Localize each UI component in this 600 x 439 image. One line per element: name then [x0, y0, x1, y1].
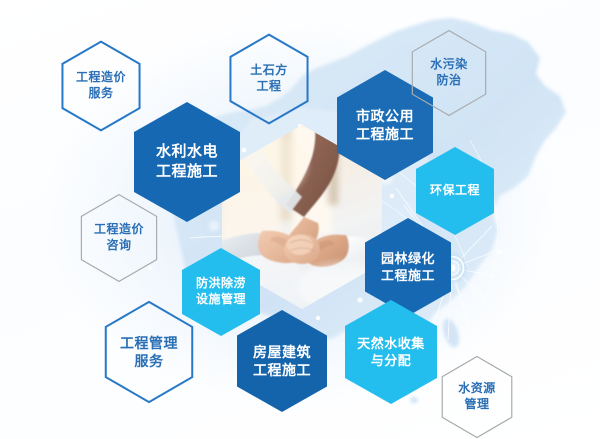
hexagon-label-line: 工程施工: [156, 162, 218, 182]
hexagon-outline-shape: [103, 300, 195, 404]
hexagon-outline-shape: [440, 355, 514, 439]
hexagon-label-line: 工程造价: [76, 70, 126, 86]
hexagon-gongcheng-zaojia-zixun[interactable]: 工程造价咨询: [79, 193, 159, 283]
hexagon-label-line: 工程: [256, 79, 281, 95]
hexagon-shuiwuran-fangzhi[interactable]: 水污染防治: [410, 29, 488, 117]
hexagon-label-line: 工程管理: [120, 334, 178, 352]
hexagon-label-line: 天然水收集: [357, 335, 425, 352]
hexagon-label: 工程管理服务: [103, 300, 195, 404]
hexagon-label-line: 工程施工: [381, 267, 435, 284]
hexagon-shuiziyuan-guanli[interactable]: 水资源管理: [440, 355, 514, 439]
hexagon-label-line: 服务: [135, 352, 164, 370]
hexagon-label-line: 咨询: [106, 238, 131, 254]
hexagon-tianranshui-shouji-yu-fenpei[interactable]: 天然水收集与分配: [345, 300, 437, 404]
hexagon-tushifang-gongcheng[interactable]: 土石方工程: [228, 33, 310, 125]
network-hub-node: [435, 251, 469, 285]
hexagon-label-line: 管理: [464, 397, 489, 413]
hexagon-fangwu-jianzhu-gongcheng-shigong[interactable]: 房屋建筑工程施工: [237, 310, 327, 412]
hexagon-label: 水资源管理: [440, 355, 514, 439]
hexagon-label-line: 工程施工: [356, 125, 414, 143]
hexagon-label-line: 水污染: [430, 57, 468, 73]
hexagon-label: 工程造价服务: [60, 40, 142, 132]
hexagon-outline-shape: [79, 193, 159, 283]
hexagon-label-line: 园林绿化: [381, 250, 435, 267]
hexagon-label-line: 工程造价: [94, 222, 144, 238]
hexagon-label: 土石方工程: [228, 33, 310, 125]
hexagon-label-line: 环保工程: [430, 183, 480, 199]
hexagon-gongcheng-guanli-fuwu[interactable]: 工程管理服务: [103, 300, 195, 404]
hexagon-label-line: 土石方: [250, 63, 288, 79]
hexagon-label: 水污染防治: [410, 29, 488, 117]
hexagon-label-line: 设施管理: [196, 292, 246, 308]
hexagon-label-line: 市政公用: [356, 107, 414, 125]
hexagon-outline-shape: [410, 29, 488, 117]
hexagon-label-line: 防治: [436, 73, 461, 89]
hexagon-label-line: 房屋建筑: [253, 343, 311, 361]
hexagon-label-line: 工程施工: [253, 361, 311, 379]
hexagon-label-line: 防洪除涝: [196, 276, 246, 292]
hexagon-label-line: 水资源: [458, 381, 496, 397]
teamwork-hands-photo: [222, 125, 382, 309]
infographic-canvas: 工程造价服务土石方工程水利水电工程施工市政公用工程施工水污染防治环保工程工程造价…: [0, 0, 600, 439]
hexagon-gongcheng-zaojia-fuwu[interactable]: 工程造价服务: [60, 40, 142, 132]
hexagon-label: 工程造价咨询: [79, 193, 159, 283]
hexagon-label-line: 水利水电: [156, 142, 218, 162]
hexagon-outline-shape: [228, 33, 310, 125]
hexagon-label-line: 与分配: [371, 352, 412, 369]
hexagon-huanbao-gongcheng[interactable]: 环保工程: [416, 147, 494, 235]
hexagon-label-line: 服务: [88, 86, 113, 102]
hexagon-outline-shape: [60, 40, 142, 132]
